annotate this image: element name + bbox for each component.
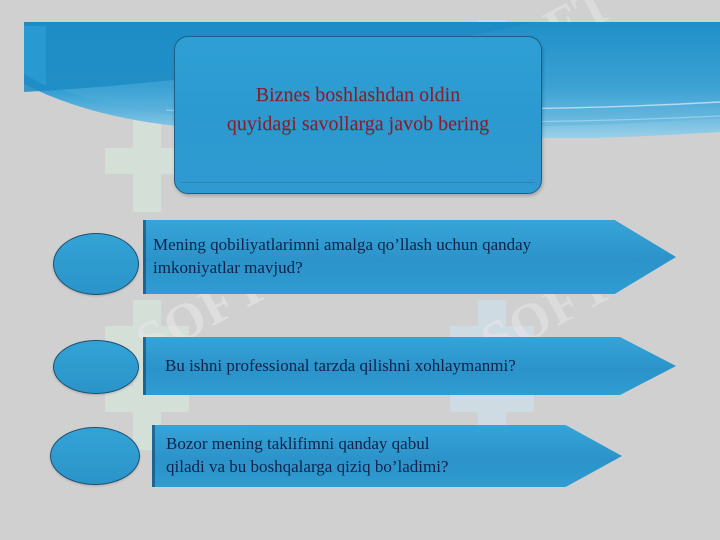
question-arrow-1-text: Mening qobiliyatlarimni amalga qo’llash … — [153, 234, 531, 280]
arrow-left-edge — [143, 337, 146, 395]
bullet-ellipse-2[interactable] — [53, 340, 139, 394]
title-box: Biznes boshlashdan oldin quyidagi savoll… — [174, 36, 542, 194]
bullet-ellipse-3[interactable] — [50, 427, 140, 485]
question-arrow-2-text: Bu ishni professional tarzda qilishni xo… — [165, 355, 516, 378]
slide-canvas: SOFT SOFT SOFT — [0, 0, 720, 540]
arrow-left-edge — [143, 220, 146, 294]
arrow-left-edge — [152, 425, 155, 487]
question-arrow-3[interactable]: Bozor mening taklifimni qanday qabul qil… — [152, 425, 622, 487]
question-arrow-3-text: Bozor mening taklifimni qanday qabul qil… — [166, 433, 448, 479]
page-title: Biznes boshlashdan oldin quyidagi savoll… — [227, 81, 489, 149]
bullet-ellipse-1[interactable] — [53, 233, 139, 295]
question-arrow-2[interactable]: Bu ishni professional tarzda qilishni xo… — [143, 337, 676, 395]
question-arrow-1[interactable]: Mening qobiliyatlarimni amalga qo’llash … — [143, 220, 676, 294]
